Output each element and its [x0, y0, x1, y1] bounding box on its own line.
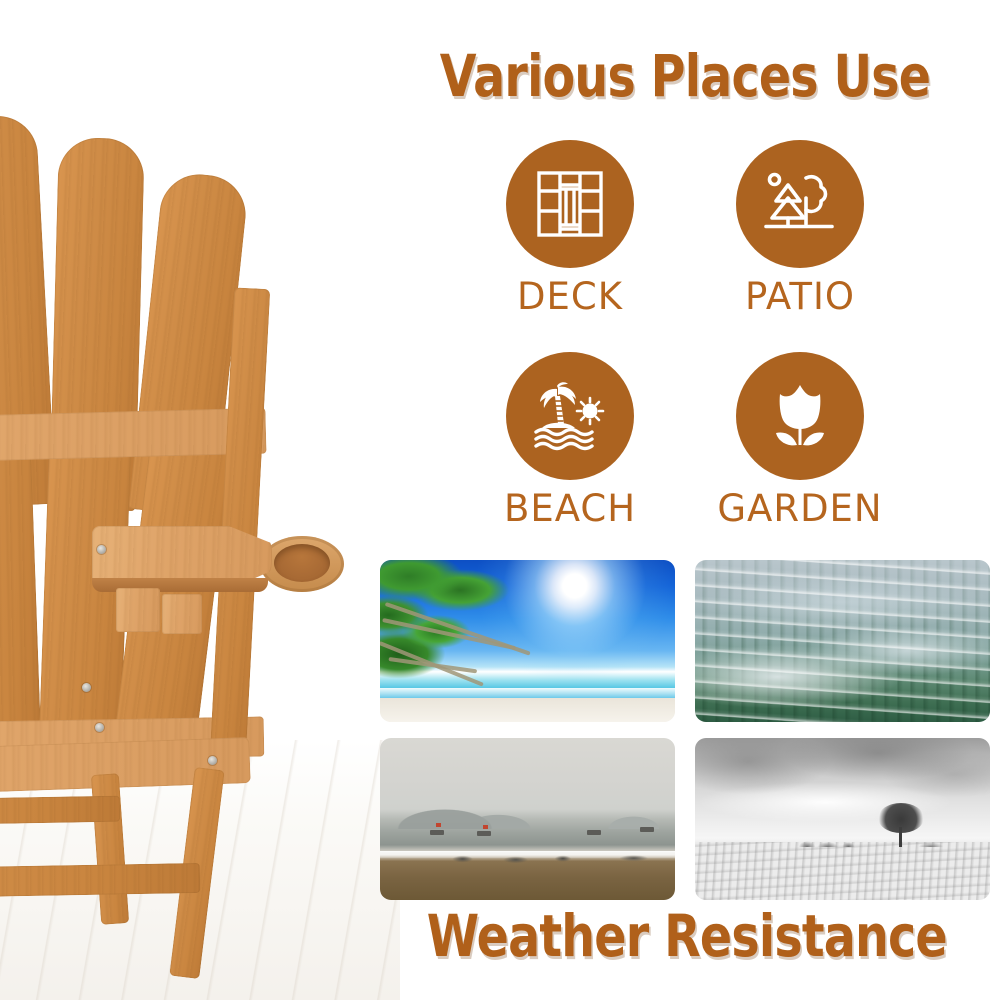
place-item-deck[interactable]: DECK — [465, 140, 675, 348]
place-label-deck: DECK — [517, 278, 623, 315]
page-title-various-places-use: Various Places Use — [427, 42, 944, 110]
place-label-garden: GARDEN — [717, 490, 882, 527]
shore-rocks — [380, 855, 675, 863]
tree-trunk — [899, 827, 902, 847]
adirondack-chair — [0, 108, 400, 898]
foggy-coast-with-boats-photo — [380, 738, 675, 900]
deck-planks-icon — [533, 167, 607, 241]
content-column: Various Places Use — [370, 0, 1000, 1000]
fishing-boat — [587, 830, 601, 835]
sand-strip — [380, 698, 675, 722]
sunny-tropical-beach-photo — [380, 560, 675, 722]
deck-icon-circle — [506, 140, 634, 268]
fishing-boat — [477, 831, 491, 836]
chair-arm-support — [162, 594, 202, 634]
place-label-patio: PATIO — [745, 278, 855, 315]
storm-clouds — [695, 738, 990, 845]
boat-flag — [436, 823, 441, 827]
place-item-garden[interactable]: GARDEN — [695, 352, 905, 560]
chair-stretcher — [0, 863, 200, 899]
tulip-flower-icon — [763, 379, 837, 453]
screw-icon — [97, 545, 106, 554]
rain-over-misty-forest-photo — [695, 560, 990, 722]
cup-holder-hole — [274, 544, 330, 582]
fishing-boat — [430, 830, 444, 835]
page-title-weather-resistance: Weather Resistance — [427, 902, 944, 970]
patio-icon-circle — [736, 140, 864, 268]
garden-icon-circle — [736, 352, 864, 480]
distant-shrubs — [695, 835, 990, 847]
screw-icon — [208, 756, 217, 765]
chair-stretcher — [0, 796, 120, 827]
fishing-boat — [640, 827, 654, 832]
chair-back-slat — [0, 441, 41, 750]
snow-field — [695, 842, 990, 900]
screw-icon — [95, 723, 104, 732]
screw-icon — [82, 683, 91, 692]
weather-photo-grid — [380, 560, 990, 900]
boat-flag — [483, 825, 488, 829]
place-item-beach[interactable]: BEACH — [465, 352, 675, 560]
product-photo-panel — [0, 0, 400, 1000]
rain-streaks — [695, 560, 990, 722]
distant-hills — [380, 800, 675, 829]
beach-icon-circle — [506, 352, 634, 480]
snow-field-lone-tree-photo — [695, 738, 990, 900]
place-label-beach: BEACH — [504, 490, 636, 527]
marketing-image-canvas: Various Places Use — [0, 0, 1000, 1000]
place-item-patio[interactable]: PATIO — [695, 140, 905, 348]
trees-sun-icon — [762, 168, 838, 240]
chair-arm-support — [116, 588, 160, 632]
places-icon-grid: DECK — [465, 140, 905, 560]
palm-island-sun-waves-icon — [530, 381, 610, 451]
lone-tree — [878, 803, 924, 847]
